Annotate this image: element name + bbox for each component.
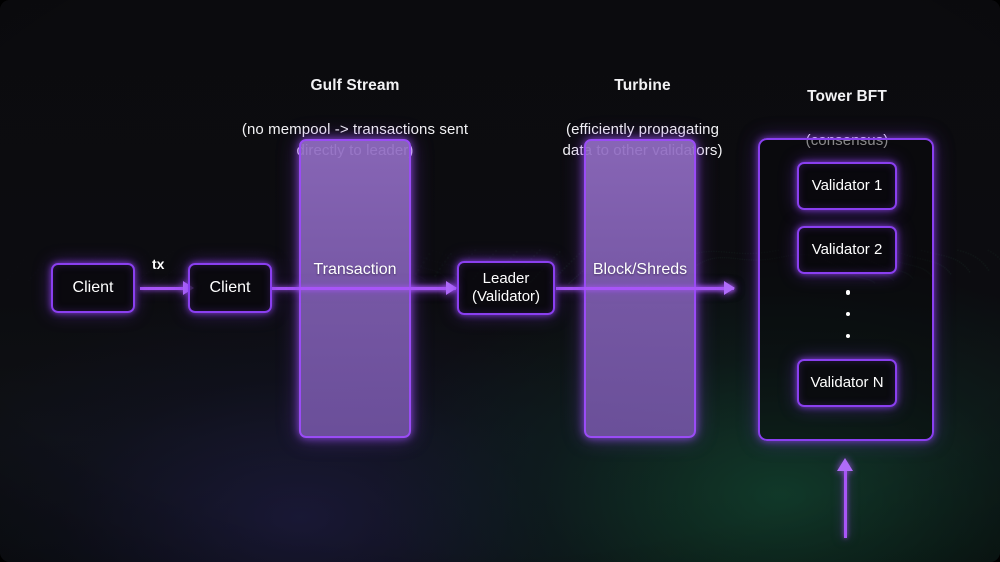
- node-client-left-label: Client: [73, 278, 114, 297]
- ellipsis-dot: [846, 312, 851, 317]
- node-leader-label: Leader (Validator): [472, 270, 540, 306]
- arrow-client-to-leader-head: [446, 281, 457, 295]
- node-leader[interactable]: Leader (Validator): [457, 261, 555, 315]
- arrow-through-transaction: [299, 287, 456, 290]
- node-transaction-label: Transaction: [301, 261, 409, 279]
- node-block-shreds-label: Block/Shreds: [586, 261, 694, 279]
- validator-item-n-label: Validator N: [810, 374, 883, 392]
- arrow-leader-to-validators-head: [724, 281, 735, 295]
- ellipsis-dot: [846, 290, 851, 295]
- diagram-canvas: Gulf Stream (no mempool -> transactions …: [0, 0, 1000, 562]
- node-client-left[interactable]: Client: [51, 263, 135, 313]
- ellipsis-dot: [846, 334, 851, 339]
- arrow-consensus-up-line: [844, 470, 847, 538]
- caption-tower-bft-title: Tower BFT: [762, 86, 932, 108]
- validator-item-2[interactable]: Validator 2: [797, 226, 897, 274]
- validator-panel: Validator 1 Validator 2 Validator N: [758, 138, 934, 441]
- validator-item-2-label: Validator 2: [812, 241, 883, 259]
- arrow-consensus-up-head: [837, 458, 853, 471]
- caption-turbine-title: Turbine: [540, 75, 745, 97]
- validator-item-1[interactable]: Validator 1: [797, 162, 897, 210]
- arrow-through-block-shreds: [584, 287, 734, 290]
- caption-gulf-stream-title: Gulf Stream: [230, 75, 480, 97]
- edge-label-tx: tx: [152, 256, 164, 272]
- validator-ellipsis: [845, 290, 851, 338]
- validator-item-n[interactable]: Validator N: [797, 359, 897, 407]
- validator-item-1-label: Validator 1: [812, 177, 883, 195]
- node-client-right[interactable]: Client: [188, 263, 272, 313]
- node-client-right-label: Client: [210, 278, 251, 297]
